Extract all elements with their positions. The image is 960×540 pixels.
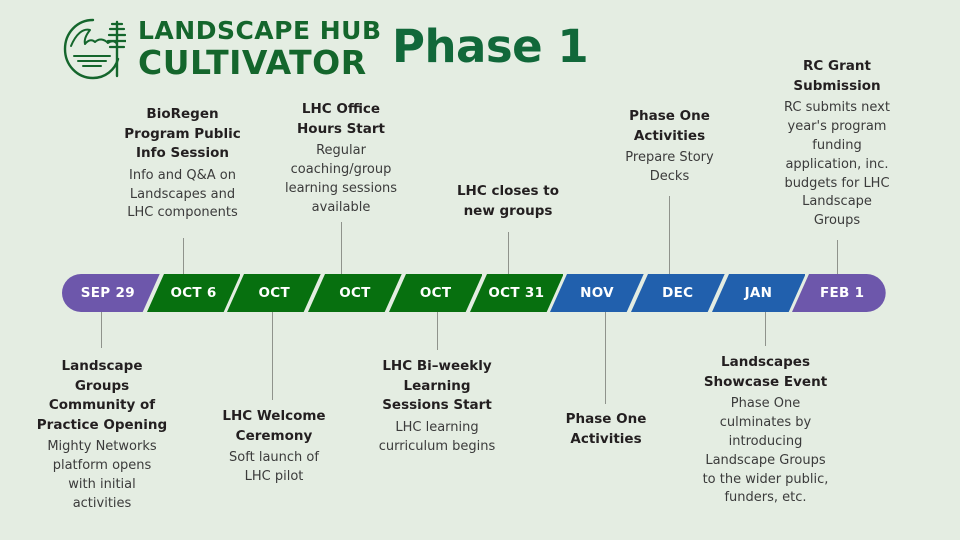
- brand-logo: LANDSCAPE HUB CULTIVATOR: [60, 14, 350, 86]
- milestone-label-above: LHC OfficeHours StartRegularcoaching/gro…: [265, 100, 417, 218]
- milestone-description: Soft launch ofLHC pilot: [203, 449, 345, 487]
- milestone-title: LandscapesShowcase Event: [688, 353, 843, 392]
- connector-line-above: [508, 232, 509, 274]
- segment-label: DEC: [662, 285, 693, 301]
- brand-line-1: LANDSCAPE HUB: [138, 18, 408, 43]
- milestone-title: LHC OfficeHours Start: [265, 100, 417, 139]
- connector-line-above: [837, 240, 838, 274]
- timeline-segment[interactable]: FEB 1: [788, 274, 886, 312]
- segment-label: JAN: [745, 285, 773, 301]
- milestone-description: RC submits nextyear's programfundingappl…: [762, 99, 912, 231]
- milestone-description: Phase Oneculminates byintroducingLandsca…: [688, 395, 843, 508]
- connector-line-below: [765, 312, 766, 346]
- milestone-label-above: RC GrantSubmissionRC submits nextyear's …: [762, 57, 912, 231]
- milestone-label-below: LandscapeGroupsCommunity ofPractice Open…: [28, 357, 176, 514]
- segment-label: OCT: [258, 285, 290, 301]
- timeline-infographic: LANDSCAPE HUB CULTIVATOR Phase 1 SEP 29O…: [0, 0, 960, 540]
- segment-label: OCT: [339, 285, 371, 301]
- milestone-label-below: Phase OneActivities: [541, 410, 671, 449]
- milestone-label-above: Phase OneActivitiesPrepare StoryDecks: [597, 107, 742, 187]
- connector-line-below: [605, 312, 606, 404]
- brand-line-2: CULTIVATOR: [138, 46, 408, 79]
- landscape-mountain-tree-badge-icon: [60, 16, 126, 82]
- milestone-description: LHC learningcurriculum begins: [363, 419, 511, 457]
- connector-line-above: [669, 196, 670, 274]
- milestone-label-above: BioRegenProgram PublicInfo SessionInfo a…: [105, 105, 260, 223]
- brand-wordmark: LANDSCAPE HUB CULTIVATOR: [138, 18, 408, 79]
- milestone-title: Phase OneActivities: [597, 107, 742, 146]
- connector-line-below: [437, 312, 438, 350]
- segment-label: SEP 29: [81, 285, 135, 301]
- segment-label: OCT 6: [170, 285, 216, 301]
- milestone-title: LandscapeGroupsCommunity ofPractice Open…: [28, 357, 176, 435]
- segment-label: NOV: [580, 285, 614, 301]
- segment-label: OCT: [420, 285, 452, 301]
- milestone-label-below: LHC WelcomeCeremonySoft launch ofLHC pil…: [203, 407, 345, 487]
- milestone-label-below: LHC Bi–weeklyLearningSessions StartLHC l…: [363, 357, 511, 456]
- milestone-description: Info and Q&A onLandscapes andLHC compone…: [105, 167, 260, 224]
- milestone-title: LHC Bi–weeklyLearningSessions Start: [363, 357, 511, 416]
- connector-line-below: [101, 312, 102, 348]
- segment-label: OCT 31: [488, 285, 544, 301]
- page-title: Phase 1: [392, 20, 588, 73]
- milestone-description: Mighty Networksplatform openswith initia…: [28, 438, 176, 513]
- segment-label: FEB 1: [820, 285, 864, 301]
- milestone-title: Phase OneActivities: [541, 410, 671, 449]
- milestone-title: LHC WelcomeCeremony: [203, 407, 345, 446]
- connector-line-above: [183, 238, 184, 274]
- milestone-title: BioRegenProgram PublicInfo Session: [105, 105, 260, 164]
- milestone-description: Prepare StoryDecks: [597, 149, 742, 187]
- connector-line-below: [272, 312, 273, 400]
- milestone-description: Regularcoaching/grouplearning sessionsav…: [265, 142, 417, 217]
- milestone-label-below: LandscapesShowcase EventPhase Oneculmina…: [688, 353, 843, 508]
- connector-line-above: [341, 222, 342, 274]
- milestone-title: LHC closes tonew groups: [437, 182, 579, 221]
- milestone-label-above: LHC closes tonew groups: [437, 182, 579, 221]
- milestone-title: RC GrantSubmission: [762, 57, 912, 96]
- timeline-bar: SEP 29OCT 6OCTOCTOCTOCT 31NOVDECJANFEB 1: [62, 274, 886, 312]
